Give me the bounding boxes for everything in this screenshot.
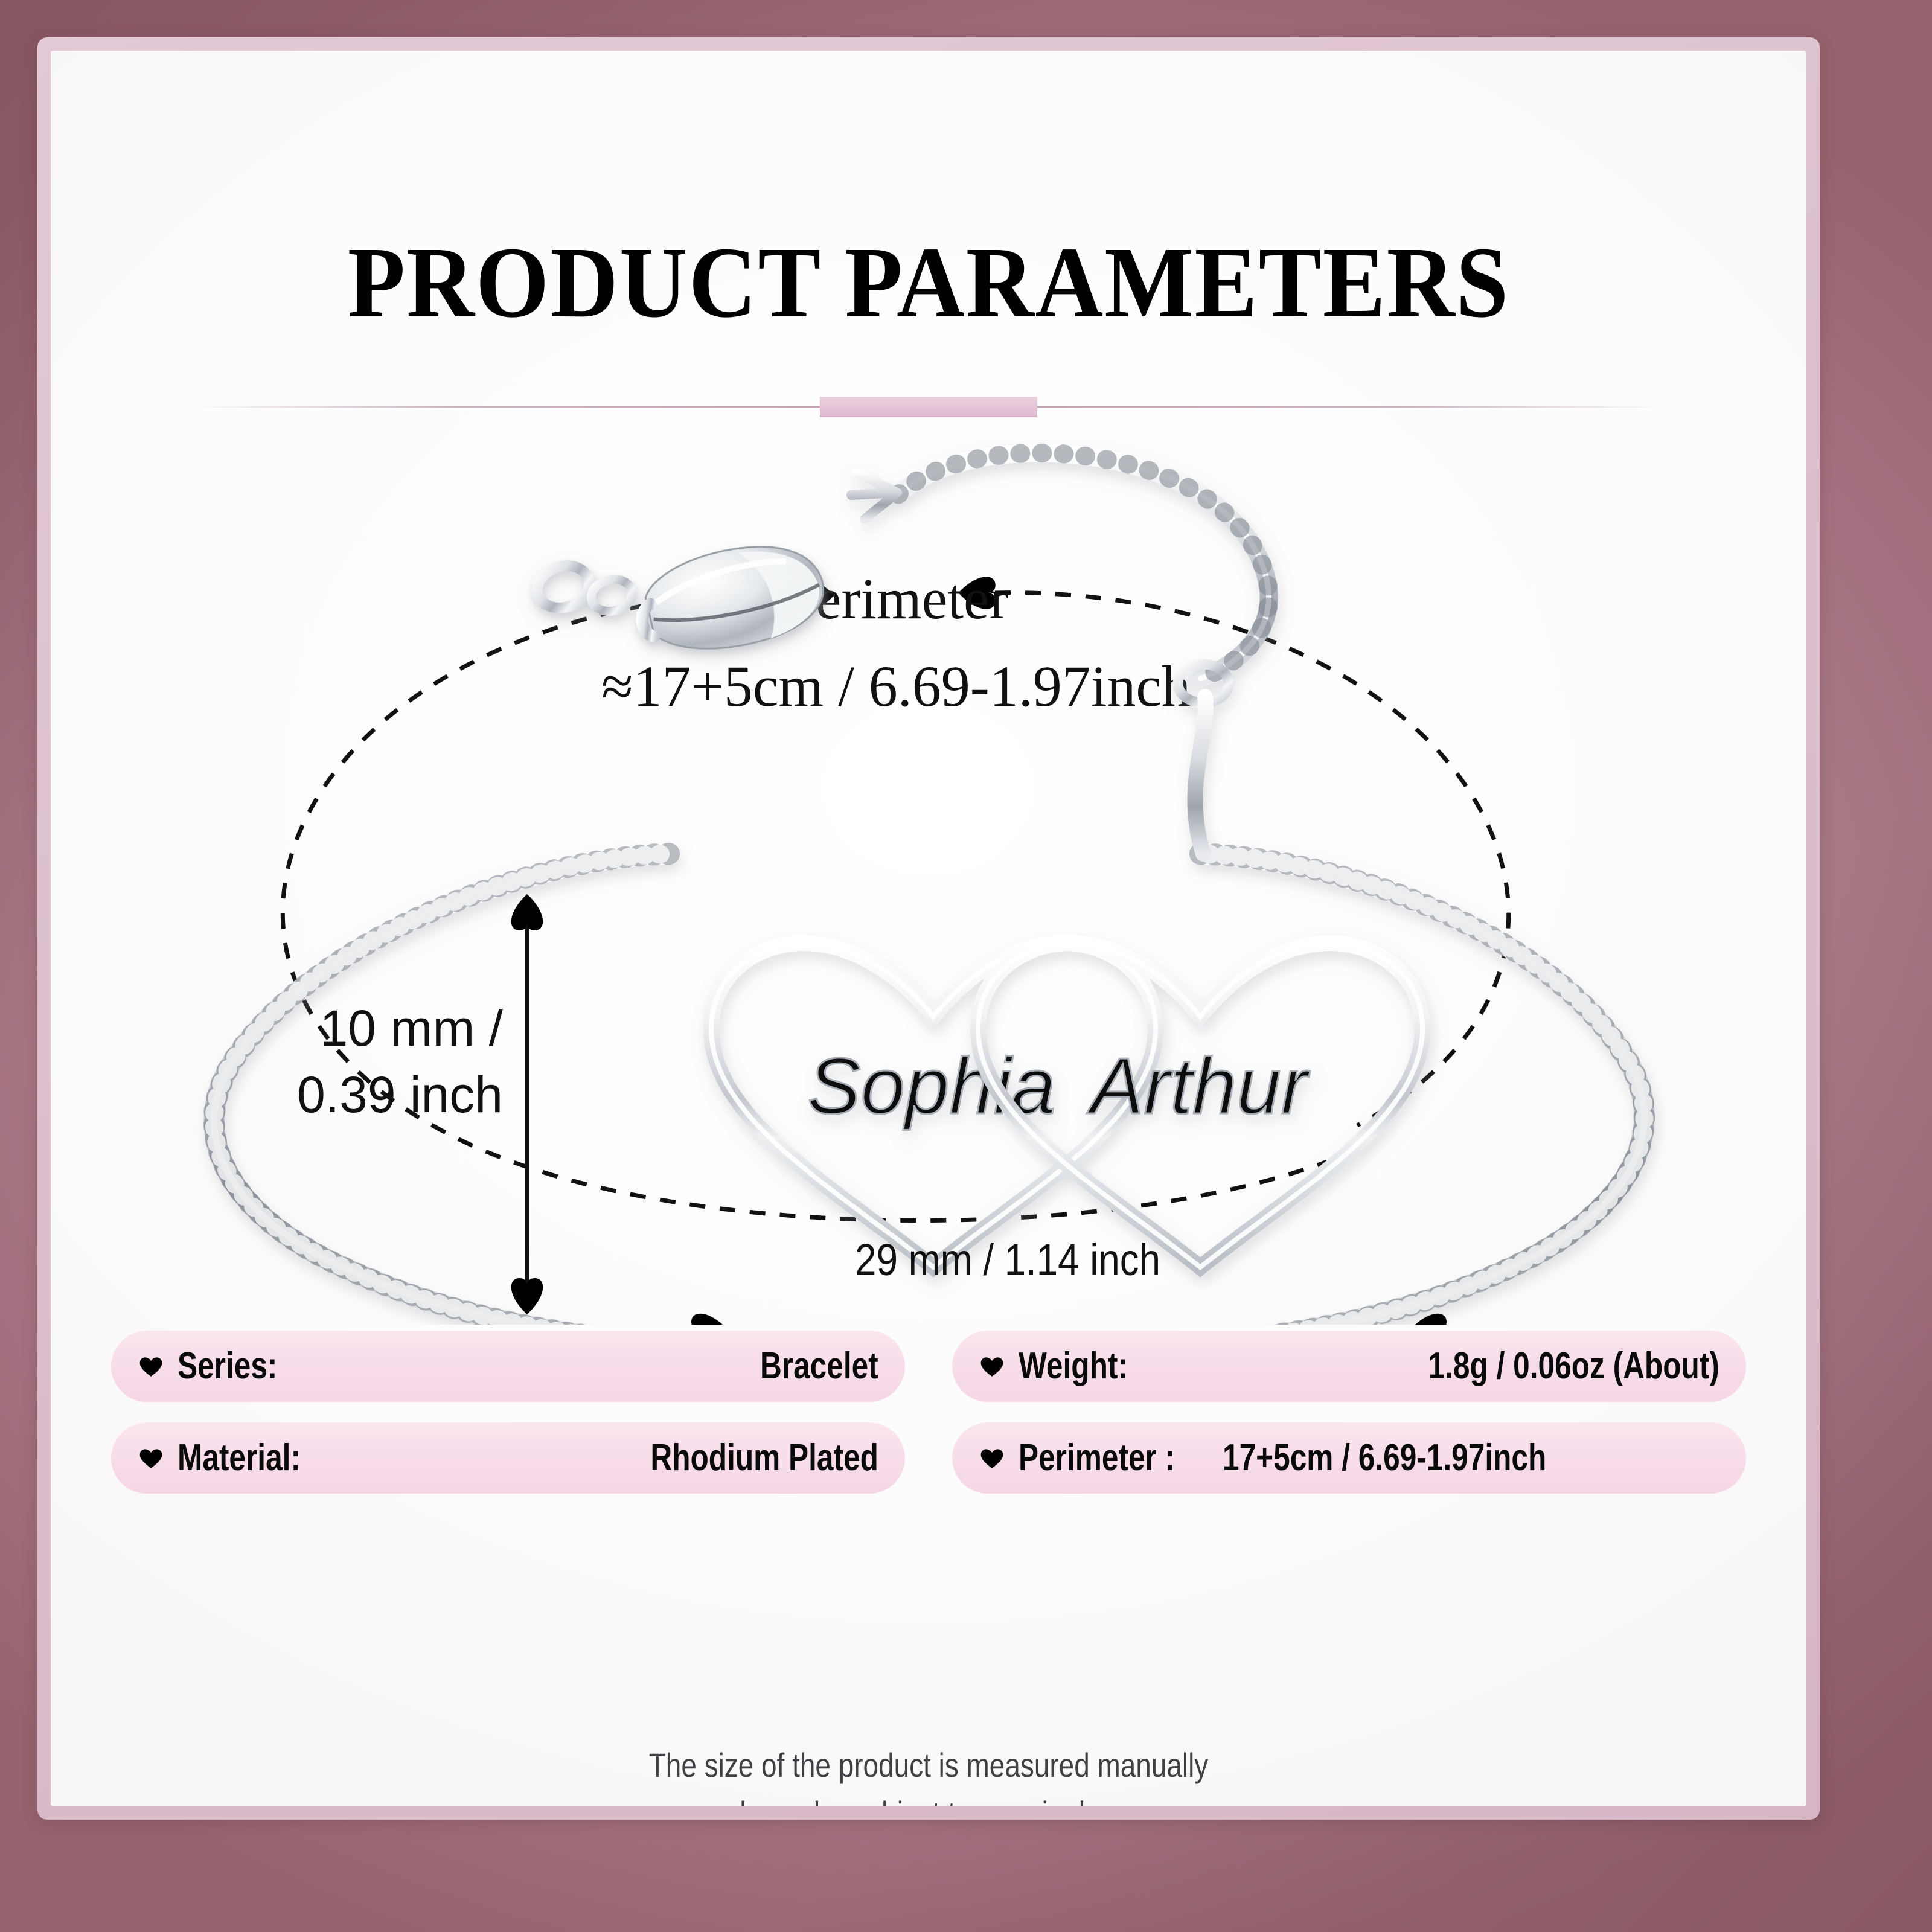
page-title: PRODUCT PARAMETERS <box>112 232 1745 333</box>
product-image-stage: Perimeter ≈17+5cm / 6.69-1.97inch <box>51 437 1806 1325</box>
inner-bezel: PRODUCT PARAMETERS <box>37 37 1820 1820</box>
width-value: 29 mm / 1.14 inch <box>855 1234 1160 1285</box>
heart-bullet-icon <box>979 1353 1005 1380</box>
heart-bullet-icon <box>138 1353 164 1380</box>
engraved-name-right: Arthur <box>1086 1041 1310 1130</box>
outer-frame: PRODUCT PARAMETERS <box>0 0 1932 1932</box>
height-value-line1: 10 mm / <box>320 1000 504 1057</box>
spec-value: 1.8g / 0.06oz (About) <box>1428 1348 1719 1385</box>
spec-value: Rhodium Plated <box>650 1439 878 1477</box>
spec-pill-grid: Series: Bracelet Weight: 1.8g / 0.06oz (… <box>111 1331 1746 1494</box>
measurement-disclaimer: The size of the product is measured manu… <box>209 1741 1649 1806</box>
spec-key: Series: <box>178 1348 277 1385</box>
disclaimer-line-1: The size of the product is measured manu… <box>209 1741 1649 1790</box>
spec-pill-perimeter[interactable]: Perimeter : 17+5cm / 6.69-1.97inch <box>952 1422 1746 1494</box>
divider-accent-bar <box>820 397 1037 417</box>
heart-bullet-icon <box>138 1445 164 1471</box>
disclaimer-line-2: and may be subject to marginal error. <box>209 1790 1649 1806</box>
heart-bullet-icon <box>979 1445 1005 1471</box>
spec-value: Bracelet <box>760 1348 878 1385</box>
product-card: PRODUCT PARAMETERS <box>51 51 1806 1806</box>
lobster-clasp <box>532 531 832 666</box>
spec-value: 17+5cm / 6.69-1.97inch <box>1223 1439 1546 1477</box>
width-caption-wrapper: 29 mm / 1.14 inch <box>706 1234 1310 1285</box>
spec-key: Material: <box>178 1439 301 1477</box>
height-value-line2: 0.39 inch <box>297 1066 503 1123</box>
spec-pill-series[interactable]: Series: Bracelet <box>111 1331 905 1402</box>
page-title-wrapper: PRODUCT PARAMETERS <box>51 232 1806 333</box>
spec-pill-weight[interactable]: Weight: 1.8g / 0.06oz (About) <box>952 1331 1746 1402</box>
spec-key: Weight: <box>1019 1348 1128 1385</box>
heart-pendants: Sophia Arthur <box>663 943 1422 1267</box>
bracelet-illustration: Perimeter ≈17+5cm / 6.69-1.97inch <box>51 437 1806 1325</box>
spec-key: Perimeter : <box>1019 1439 1175 1477</box>
spec-pill-material[interactable]: Material: Rhodium Plated <box>111 1422 905 1494</box>
title-divider <box>190 404 1668 410</box>
perimeter-value: ≈17+5cm / 6.69-1.97inch <box>601 654 1191 718</box>
